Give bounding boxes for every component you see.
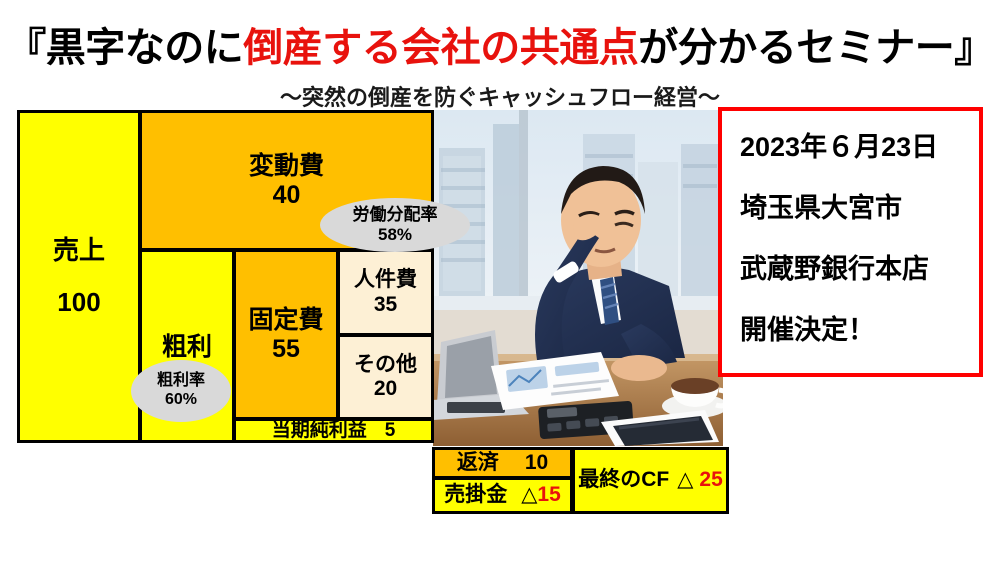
chart-block-receivables-label: 売掛金 [444, 483, 507, 507]
chart-block-sales: 売上 100 [17, 110, 141, 443]
chart-block-net-income-label: 当期純利益 [272, 420, 367, 442]
receivables-negative-sign: △ [521, 483, 537, 506]
title-suffix: が分かるセミナー』 [638, 26, 994, 70]
chart-block-gross-profit-label: 粗利 [162, 333, 212, 362]
event-info-box: 2023年６月23日 埼玉県大宮市 武蔵野銀行本店 開催決定！ [718, 107, 983, 377]
chart-block-fixed-cost-value: 55 [272, 335, 300, 364]
chart-block-other-cost-value: 20 [374, 377, 397, 401]
event-venue: 武蔵野銀行本店 [740, 247, 979, 286]
chart-block-repayment-value: 10 [525, 451, 548, 475]
businessman-photo [433, 110, 723, 446]
chart-block-receivables-value: △15 [521, 483, 561, 507]
ratio-badge-labor-share-label: 労働分配率 [353, 205, 438, 225]
final-cf-amount: 25 [699, 468, 722, 491]
chart-block-sales-label: 売上 [53, 236, 105, 266]
chart-block-fixed-cost-label: 固定費 [248, 306, 323, 335]
chart-block-final-cash-flow-value: △25 [677, 468, 723, 492]
event-location: 埼玉県大宮市 [740, 186, 979, 225]
title-highlight: 倒産する会社の共通点 [243, 26, 638, 70]
chart-block-net-income: 当期純利益 5 [233, 418, 434, 443]
ratio-badge-labor-share-value: 58% [378, 225, 412, 245]
ratio-badge-gross-margin-value: 60% [165, 391, 197, 410]
chart-block-variable-cost-label: 変動費 [249, 152, 324, 181]
chart-block-sales-value: 100 [57, 288, 100, 318]
chart-block-personnel-cost-value: 35 [374, 293, 397, 317]
event-status: 開催決定！ [740, 308, 979, 347]
ratio-badge-gross-margin: 粗利率 60% [131, 360, 231, 422]
event-date: 2023年６月23日 [740, 125, 979, 164]
chart-block-repayment-label: 返済 [457, 451, 499, 475]
title-prefix: 『黒字なのに [6, 26, 243, 70]
chart-block-other-cost-label: その他 [354, 353, 417, 377]
final-cf-negative-sign: △ [677, 468, 693, 491]
chart-block-final-cash-flow: 最終のCF △25 [572, 447, 729, 514]
chart-block-receivables: 売掛金 △15 [432, 477, 573, 514]
chart-block-repayment: 返済 10 [432, 447, 573, 479]
chart-block-final-cash-flow-label: 最終のCF [578, 468, 669, 492]
chart-block-personnel-cost-label: 人件費 [354, 268, 417, 292]
chart-block-variable-cost-value: 40 [273, 181, 301, 210]
chart-block-other-cost: その他 20 [337, 334, 434, 420]
page-title: 『黒字なのに倒産する会社の共通点が分かるセミナー』 [0, 26, 1000, 70]
chart-block-net-income-value: 5 [385, 420, 396, 442]
receivables-amount: 15 [537, 483, 560, 506]
slide-root: 『黒字なのに倒産する会社の共通点が分かるセミナー』 〜突然の倒産を防ぐキャッシュ… [0, 0, 1000, 563]
chart-block-fixed-cost: 固定費 55 [233, 249, 339, 420]
chart-block-personnel-cost: 人件費 35 [337, 249, 434, 336]
ratio-badge-labor-share: 労働分配率 58% [320, 198, 470, 252]
ratio-badge-gross-margin-label: 粗利率 [157, 372, 205, 391]
